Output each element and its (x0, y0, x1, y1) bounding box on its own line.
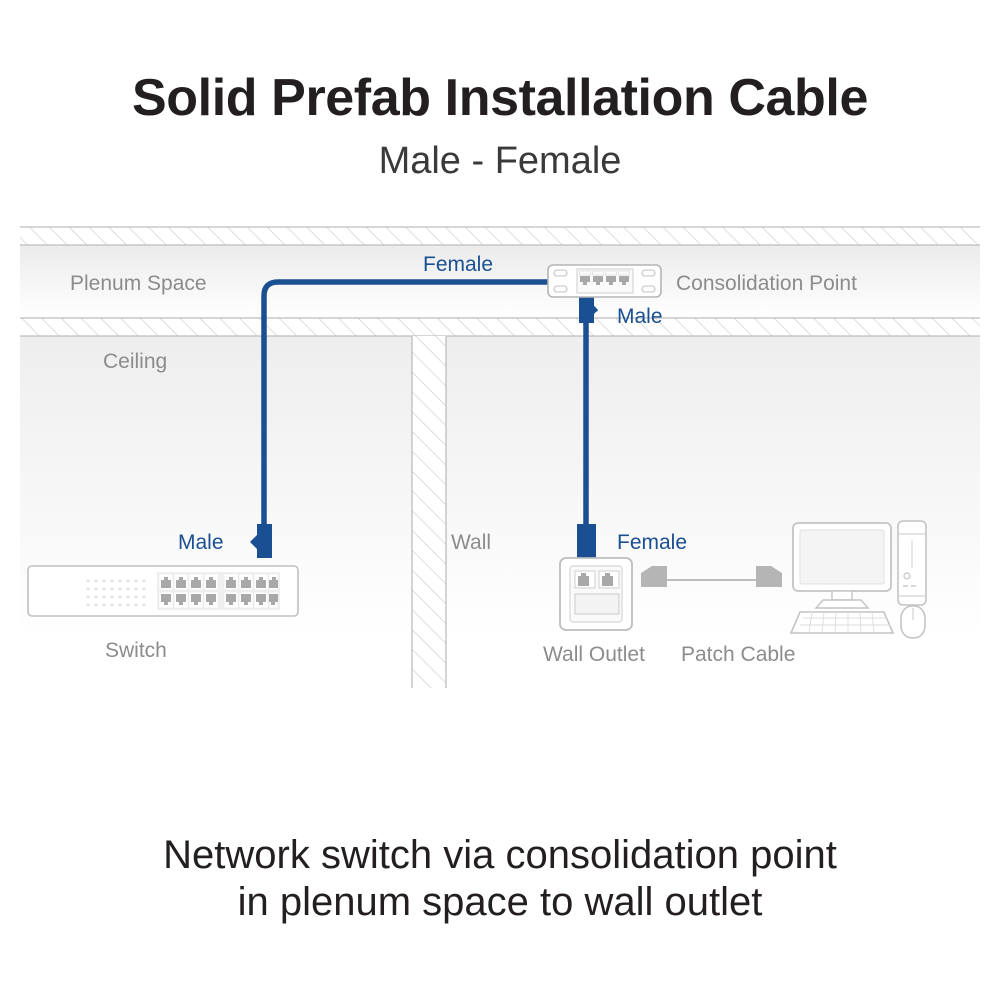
wall-column (412, 336, 446, 688)
consolidation-point-device[interactable] (548, 265, 661, 297)
label-male-switch: Male (178, 531, 224, 555)
label-plenum-space: Plenum Space (70, 272, 207, 296)
female-connector-outlet (577, 524, 596, 558)
diagram-page: Solid Prefab Installation Cable Male - F… (0, 0, 1000, 1000)
ceiling-slab (20, 318, 980, 336)
caption-line-1: Network switch via consolidation point (0, 832, 1000, 879)
label-wall-outlet: Wall Outlet (543, 643, 645, 667)
wall-outlet-device[interactable] (560, 558, 632, 630)
label-switch: Switch (105, 639, 167, 663)
label-female-outlet: Female (617, 531, 687, 555)
page-caption: Network switch via consolidation point i… (0, 832, 1000, 926)
computer-workstation[interactable] (791, 521, 926, 638)
label-patch-cable: Patch Cable (681, 643, 795, 667)
caption-line-2: in plenum space to wall outlet (0, 879, 1000, 926)
label-ceiling: Ceiling (103, 350, 167, 374)
label-consolidation-point: Consolidation Point (676, 272, 857, 296)
label-female-plenum: Female (423, 253, 493, 277)
keyboard-icon (791, 612, 893, 633)
label-wall: Wall (451, 531, 491, 555)
label-male-cp: Male (617, 305, 663, 329)
upper-slab (20, 227, 980, 245)
network-switch-device[interactable] (28, 566, 298, 616)
desktop-tower-icon (898, 521, 926, 605)
mouse-icon (901, 606, 925, 638)
